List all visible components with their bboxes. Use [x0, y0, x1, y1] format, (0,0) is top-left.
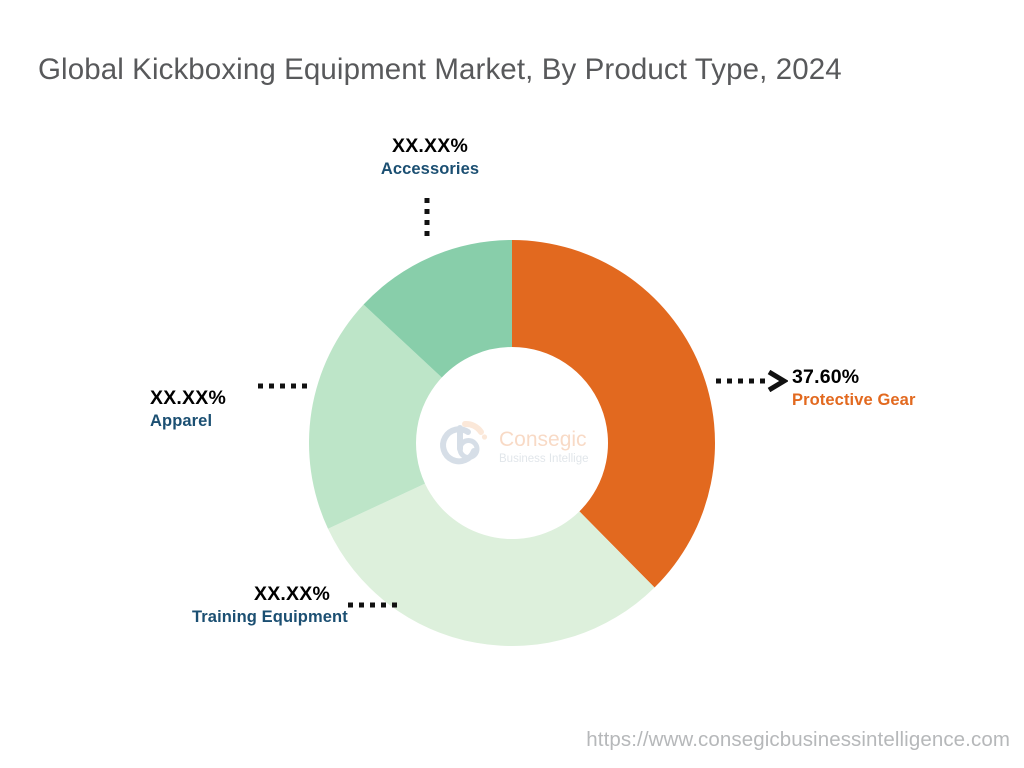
chart-page: Global Kickboxing Equipment Market, By P… [0, 0, 1024, 768]
leader-line-protective-gear [714, 370, 788, 392]
callout-training-equipment-percent: XX.XX% [192, 582, 348, 607]
logo-mark-icon [443, 424, 487, 461]
callout-accessories: XX.XX% Accessories [370, 134, 490, 180]
callout-protective-gear-label: Protective Gear [792, 390, 915, 411]
callout-apparel: XX.XX% Apparel [150, 386, 226, 432]
leader-line-training-equipment [346, 597, 404, 613]
consegic-logo-watermark: Consegic Business Intelligence [437, 418, 589, 474]
logo-brand-text: Consegic [499, 428, 587, 451]
footer-url[interactable]: https://www.consegicbusinessintelligence… [586, 728, 1010, 752]
callout-training-equipment-label: Training Equipment [192, 607, 348, 628]
page-title: Global Kickboxing Equipment Market, By P… [38, 53, 842, 87]
callout-apparel-percent: XX.XX% [150, 386, 226, 411]
leader-line-apparel [256, 378, 314, 394]
callout-training-equipment: XX.XX% Training Equipment [192, 582, 348, 628]
callout-protective-gear: 37.60% Protective Gear [792, 365, 915, 411]
callout-accessories-label: Accessories [370, 159, 490, 180]
callout-protective-gear-percent: 37.60% [792, 365, 915, 390]
callout-accessories-percent: XX.XX% [370, 134, 490, 159]
callout-apparel-label: Apparel [150, 411, 226, 432]
leader-line-accessories [419, 196, 435, 240]
logo-tagline-text: Business Intelligence [499, 453, 589, 465]
consegic-logo-svg: Consegic Business Intelligence [437, 418, 589, 474]
